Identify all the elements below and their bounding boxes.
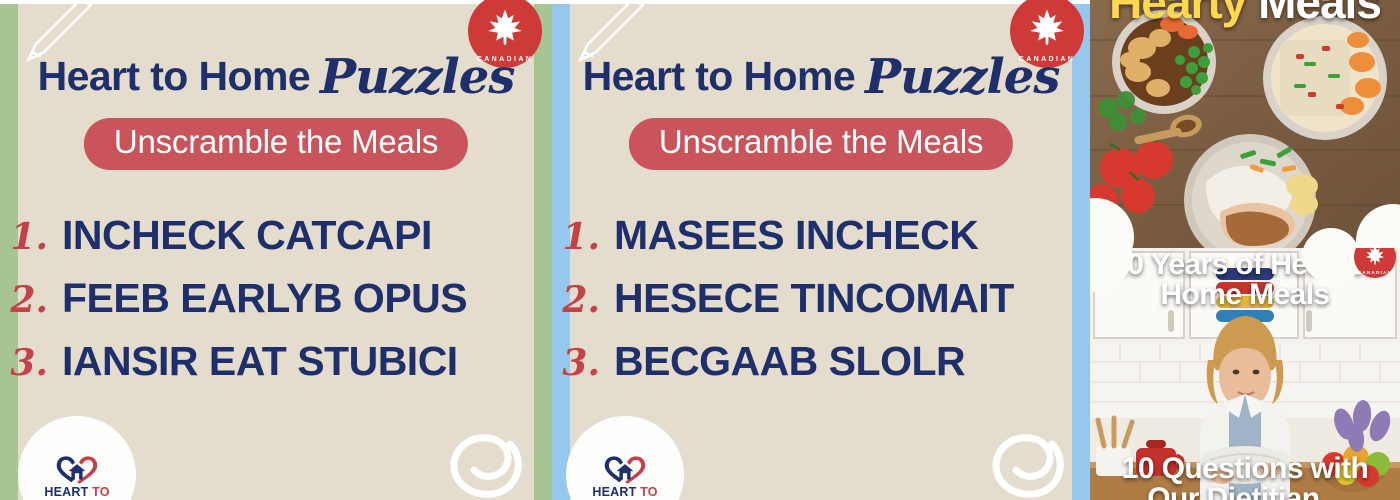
media-caption-questions: 10 Questions with Our Dietitian...: [1090, 454, 1400, 500]
item-number: 1.: [552, 216, 614, 258]
item-number: 2.: [552, 279, 614, 321]
panel-title: Heart to HomePuzzles: [0, 46, 552, 102]
puzzle-panel-1: CANADIAN Heart to HomePuzzles Unscramble…: [0, 0, 552, 500]
meals-photo: [1090, 0, 1400, 248]
list-item: 3. BECGAAB SLOLR: [552, 338, 1090, 385]
media-card-hearty-meals[interactable]: Hearty Meals: [1090, 0, 1400, 248]
swirl-decoration: [432, 414, 542, 500]
media-card-dietitian[interactable]: 10 Years of Heart to Home Meals 10 Quest…: [1090, 248, 1400, 500]
title-main: Heart to Home: [38, 53, 310, 99]
canadian-badge-small: CANADIAN: [1354, 248, 1396, 278]
title-script: Puzzles: [865, 49, 1059, 105]
title-script: Puzzles: [320, 49, 514, 105]
puzzle-list: 1. INCHECK CATCAPI 2. FEEB EARLYB OPUS 3…: [0, 212, 552, 385]
item-word: HESECE TINCOMAIT: [614, 275, 1014, 322]
item-number: 2.: [0, 279, 62, 321]
item-word: BECGAAB SLOLR: [614, 338, 965, 385]
item-word: FEEB EARLYB OPUS: [62, 275, 467, 322]
badge-label: CANADIAN: [1354, 270, 1396, 275]
media-column: Hearty Meals: [1090, 0, 1400, 500]
subtitle-pill: Unscramble the Meals: [629, 118, 1013, 170]
puzzle-panel-2: CANADIAN Heart to HomePuzzles Unscramble…: [552, 0, 1090, 500]
heart-house-icon: [56, 454, 98, 484]
caption-meals-word: Meals: [1258, 0, 1381, 28]
list-item: 1. MASEES INCHECK: [552, 212, 1090, 259]
panel-title: Heart to HomePuzzles: [552, 46, 1090, 102]
title-main: Heart to Home: [583, 53, 855, 99]
list-item: 2. FEEB EARLYB OPUS: [0, 275, 552, 322]
swirl-decoration: [974, 414, 1084, 500]
puzzle-list: 1. MASEES INCHECK 2. HESECE TINCOMAIT 3.…: [552, 212, 1090, 385]
heart-house-icon: [604, 454, 646, 484]
list-item: 3. IANSIR EAT STUBICI: [0, 338, 552, 385]
item-word: IANSIR EAT STUBICI: [62, 338, 458, 385]
list-item: 2. HESECE TINCOMAIT: [552, 275, 1090, 322]
item-word: INCHECK CATCAPI: [62, 212, 432, 259]
poster-stage: CANADIAN Heart to HomePuzzles Unscramble…: [0, 0, 1400, 500]
media-caption-hearty: Hearty Meals: [1090, 0, 1400, 24]
logo-line-1: HEART TO: [592, 485, 657, 499]
list-item: 1. INCHECK CATCAPI: [0, 212, 552, 259]
item-word: MASEES INCHECK: [614, 212, 978, 259]
subtitle-pill: Unscramble the Meals: [84, 118, 468, 170]
item-number: 3.: [0, 342, 62, 384]
item-number: 3.: [552, 342, 614, 384]
logo-line-1: HEART TO: [44, 485, 109, 499]
item-number: 1.: [0, 216, 62, 258]
caption-hearty-word: Hearty: [1109, 0, 1246, 28]
